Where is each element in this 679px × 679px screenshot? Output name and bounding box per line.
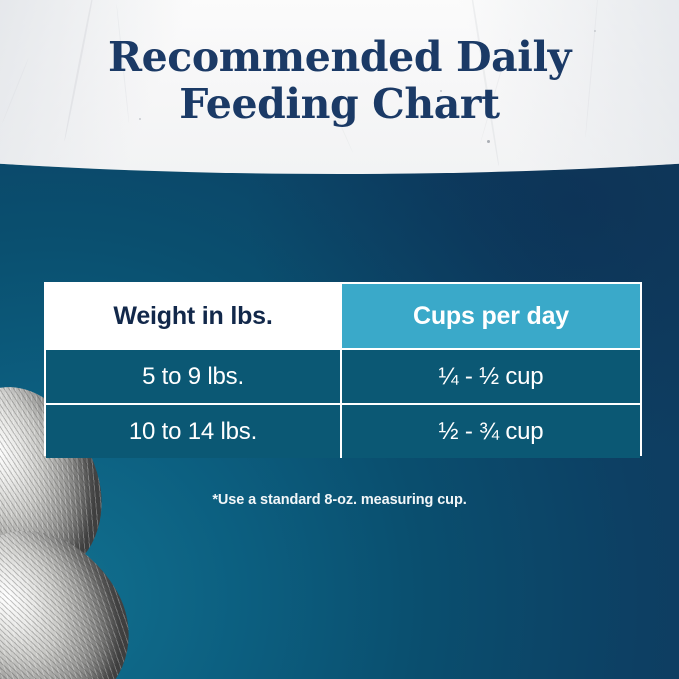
feeding-chart-infographic: Recommended Daily Feeding Chart Weight i… [0, 0, 679, 679]
feeding-table: Weight in lbs. Cups per day 5 to 9 lbs. … [44, 282, 642, 456]
cell-cups-row-2: ½ - ¾ cup [340, 405, 640, 458]
table-header-row: Weight in lbs. Cups per day [46, 284, 640, 348]
marble-speck [487, 140, 490, 143]
table-row: 10 to 14 lbs. ½ - ¾ cup [46, 403, 640, 458]
column-header-weight: Weight in lbs. [46, 284, 340, 348]
cell-cups-row-1: ¼ - ½ cup [340, 350, 640, 403]
page-title: Recommended Daily Feeding Chart [0, 34, 679, 128]
footnote-text: *Use a standard 8-oz. measuring cup. [0, 492, 679, 508]
marble-speck [594, 30, 596, 32]
page-title-line-1: Recommended Daily [0, 34, 679, 81]
page-title-line-2: Feeding Chart [0, 81, 679, 128]
table-row: 5 to 9 lbs. ¼ - ½ cup [46, 348, 640, 403]
cell-weight-row-1: 5 to 9 lbs. [46, 350, 340, 403]
cell-weight-row-2: 10 to 14 lbs. [46, 405, 340, 458]
column-header-cups: Cups per day [340, 284, 640, 348]
